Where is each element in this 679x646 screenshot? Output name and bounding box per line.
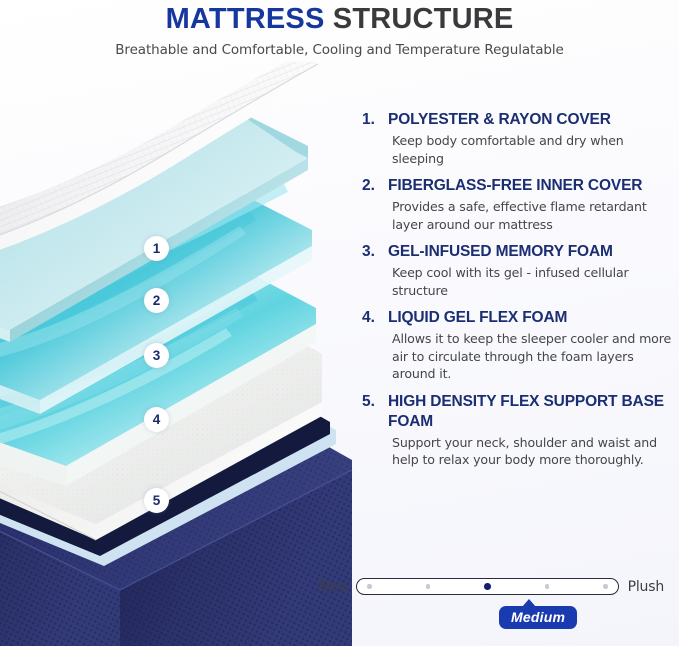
feature-index-1: 1. [362, 110, 388, 129]
feature-description-3: Keep cool with its gel - infused cellula… [388, 264, 674, 299]
firmness-dot-1[interactable] [367, 584, 372, 589]
firmness-dot-3-selected[interactable] [484, 583, 491, 590]
firmness-badge-wrap: Medium [318, 598, 664, 638]
feature-body-5: HIGH DENSITY FLEX SUPPORT BASE FOAM Supp… [388, 392, 674, 469]
firmness-slider-track[interactable] [356, 578, 618, 595]
feature-title-3: GEL-INFUSED MEMORY FOAM [388, 242, 674, 262]
feature-item-4: 4. LIQUID GEL FLEX FOAM Allows it to kee… [362, 308, 674, 383]
feature-item-3: 3. GEL-INFUSED MEMORY FOAM Keep cool wit… [362, 242, 674, 299]
firmness-dot-5[interactable] [603, 584, 608, 589]
feature-item-2: 2. FIBERGLASS-FREE INNER COVER Provides … [362, 176, 674, 233]
feature-description-1: Keep body comfortable and dry when sleep… [388, 132, 674, 167]
feature-title-2: FIBERGLASS-FREE INNER COVER [388, 176, 674, 196]
layer-badge-5: 5 [144, 488, 169, 513]
firmness-dot-2[interactable] [426, 584, 431, 589]
layer-badge-3: 3 [144, 343, 169, 368]
layer-badge-2: 2 [144, 288, 169, 313]
feature-body-3: GEL-INFUSED MEMORY FOAM Keep cool with i… [388, 242, 674, 299]
feature-index-5: 5. [362, 392, 388, 411]
feature-title-1: POLYESTER & RAYON COVER [388, 110, 674, 130]
feature-list: 1. POLYESTER & RAYON COVER Keep body com… [362, 110, 674, 478]
mattress-diagram-svg [0, 62, 360, 646]
firmness-label-plush: Plush [628, 579, 664, 595]
firmness-scale: Firm Plush Medium [318, 578, 664, 595]
feature-description-2: Provides a safe, effective flame retarda… [388, 198, 674, 233]
feature-body-4: LIQUID GEL FLEX FOAM Allows it to keep t… [388, 308, 674, 383]
firmness-row: Firm Plush [318, 578, 664, 595]
feature-title-5: HIGH DENSITY FLEX SUPPORT BASE FOAM [388, 392, 674, 432]
title-secondary: STRUCTURE [333, 3, 514, 35]
mattress-illustration: 1 2 3 4 5 [0, 62, 360, 646]
header: MATTRESS STRUCTURE Breathable and Comfor… [0, 0, 679, 59]
firmness-label-firm: Firm [318, 579, 347, 595]
feature-description-5: Support your neck, shoulder and waist an… [388, 434, 674, 469]
title-primary: MATTRESS [166, 3, 325, 35]
page-title: MATTRESS STRUCTURE [0, 2, 679, 36]
feature-index-3: 3. [362, 242, 388, 261]
firmness-selected-badge[interactable]: Medium [499, 606, 577, 629]
infographic-root: MATTRESS STRUCTURE Breathable and Comfor… [0, 0, 679, 646]
firmness-dot-4[interactable] [545, 584, 550, 589]
feature-body-1: POLYESTER & RAYON COVER Keep body comfor… [388, 110, 674, 167]
feature-item-1: 1. POLYESTER & RAYON COVER Keep body com… [362, 110, 674, 167]
feature-index-2: 2. [362, 176, 388, 195]
feature-item-5: 5. HIGH DENSITY FLEX SUPPORT BASE FOAM S… [362, 392, 674, 469]
layer-badge-4: 4 [144, 407, 169, 432]
feature-index-4: 4. [362, 308, 388, 327]
page-subtitle: Breathable and Comfortable, Cooling and … [0, 42, 679, 59]
feature-body-2: FIBERGLASS-FREE INNER COVER Provides a s… [388, 176, 674, 233]
feature-title-4: LIQUID GEL FLEX FOAM [388, 308, 674, 328]
layer-badge-1: 1 [144, 236, 169, 261]
feature-description-4: Allows it to keep the sleeper cooler and… [388, 330, 674, 383]
